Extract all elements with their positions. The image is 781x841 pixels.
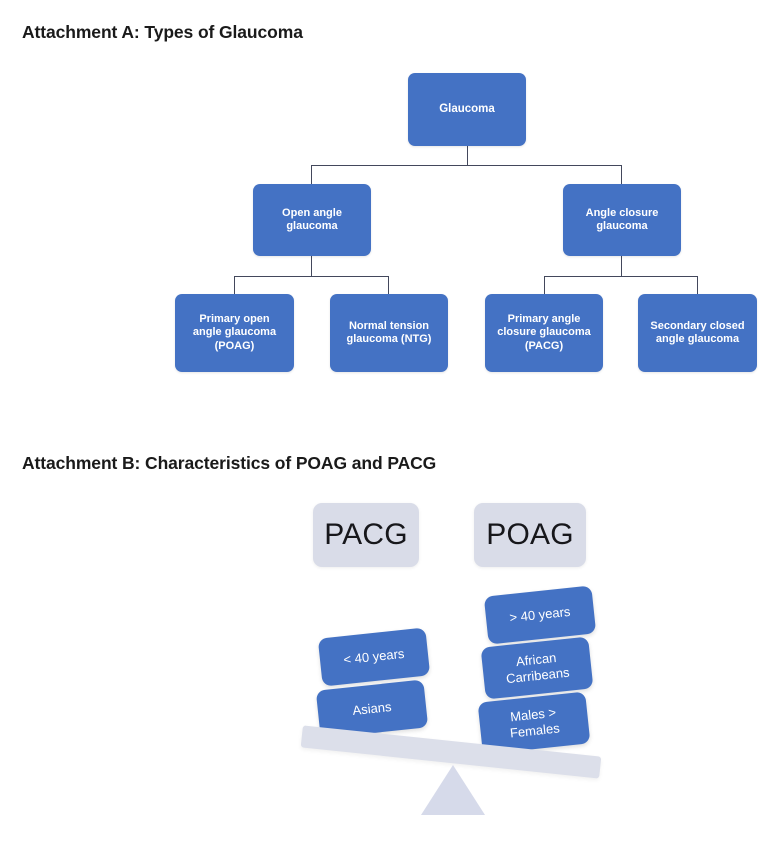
connector-openangle-to-poag	[234, 276, 235, 295]
pacg-trait-age[interactable]: < 40 years	[318, 627, 430, 686]
pacg-trait-ethnicity-label: Asians	[352, 699, 392, 719]
poag-trait-age[interactable]: > 40 years	[484, 585, 596, 644]
connector-openangle-to-ntg	[388, 276, 389, 295]
node-normal-tension-glaucoma[interactable]: Normal tension glaucoma (NTG)	[330, 294, 448, 372]
connector-root-to-left	[311, 165, 312, 185]
balance-header-pacg-label: PACG	[324, 518, 408, 552]
node-secondary-line-1: Secondary closed	[650, 320, 744, 333]
node-poag-line-2: angle glaucoma	[193, 326, 276, 339]
connector-angleclosure-stem	[621, 256, 622, 277]
node-ntg-line-1: Normal tension	[347, 320, 432, 333]
node-glaucoma-label: Glaucoma	[439, 102, 495, 116]
connector-root-stem	[467, 146, 468, 166]
poag-trait-age-label: > 40 years	[509, 604, 571, 626]
connector-angleclosure-to-secondary	[697, 276, 698, 295]
node-secondary-line-2: angle glaucoma	[650, 333, 744, 346]
poag-trait-ethnicity[interactable]: African Carribeans	[481, 636, 594, 699]
node-poag-line-1: Primary open	[193, 313, 276, 326]
attachment-a-heading: Attachment A: Types of Glaucoma	[22, 22, 303, 43]
node-angle-closure-line-1: Angle closure	[586, 207, 659, 220]
node-pacg-line-3: (PACG)	[497, 340, 591, 353]
connector-angleclosure-bar	[544, 276, 698, 277]
poag-pacg-balance-diagram: PACG POAG < 40 years Asians > 40 years A…	[0, 490, 781, 841]
node-glaucoma[interactable]: Glaucoma	[408, 73, 526, 146]
glaucoma-types-tree: Glaucoma Open angle glaucoma Angle closu…	[0, 60, 781, 390]
connector-root-bar	[311, 165, 622, 166]
attachment-figure-page: Attachment A: Types of Glaucoma Glaucoma…	[0, 0, 781, 841]
node-primary-angle-closure-glaucoma[interactable]: Primary angle closure glaucoma (PACG)	[485, 294, 603, 372]
node-angle-closure-glaucoma[interactable]: Angle closure glaucoma	[563, 184, 681, 256]
poag-trait-ethnicity-line-2: Carribeans	[505, 665, 570, 687]
balance-header-poag[interactable]: POAG	[474, 503, 586, 567]
balance-header-pacg[interactable]: PACG	[313, 503, 419, 567]
connector-openangle-stem	[311, 256, 312, 277]
connector-openangle-bar	[234, 276, 389, 277]
node-ntg-line-2: glaucoma (NTG)	[347, 333, 432, 346]
node-open-angle-glaucoma[interactable]: Open angle glaucoma	[253, 184, 371, 256]
node-open-angle-line-1: Open angle	[282, 207, 342, 220]
node-primary-open-angle-glaucoma[interactable]: Primary open angle glaucoma (POAG)	[175, 294, 294, 372]
connector-angleclosure-to-pacg	[544, 276, 545, 295]
node-pacg-line-2: closure glaucoma	[497, 326, 591, 339]
node-secondary-closed-angle-glaucoma[interactable]: Secondary closed angle glaucoma	[638, 294, 757, 372]
node-open-angle-line-2: glaucoma	[282, 220, 342, 233]
node-poag-line-3: (POAG)	[193, 340, 276, 353]
node-pacg-line-1: Primary angle	[497, 313, 591, 326]
pacg-trait-age-label: < 40 years	[343, 646, 405, 668]
node-angle-closure-line-2: glaucoma	[586, 220, 659, 233]
balance-header-poag-label: POAG	[486, 518, 574, 552]
connector-root-to-right	[621, 165, 622, 185]
attachment-b-heading: Attachment B: Characteristics of POAG an…	[22, 453, 436, 474]
balance-fulcrum-triangle	[421, 765, 485, 815]
